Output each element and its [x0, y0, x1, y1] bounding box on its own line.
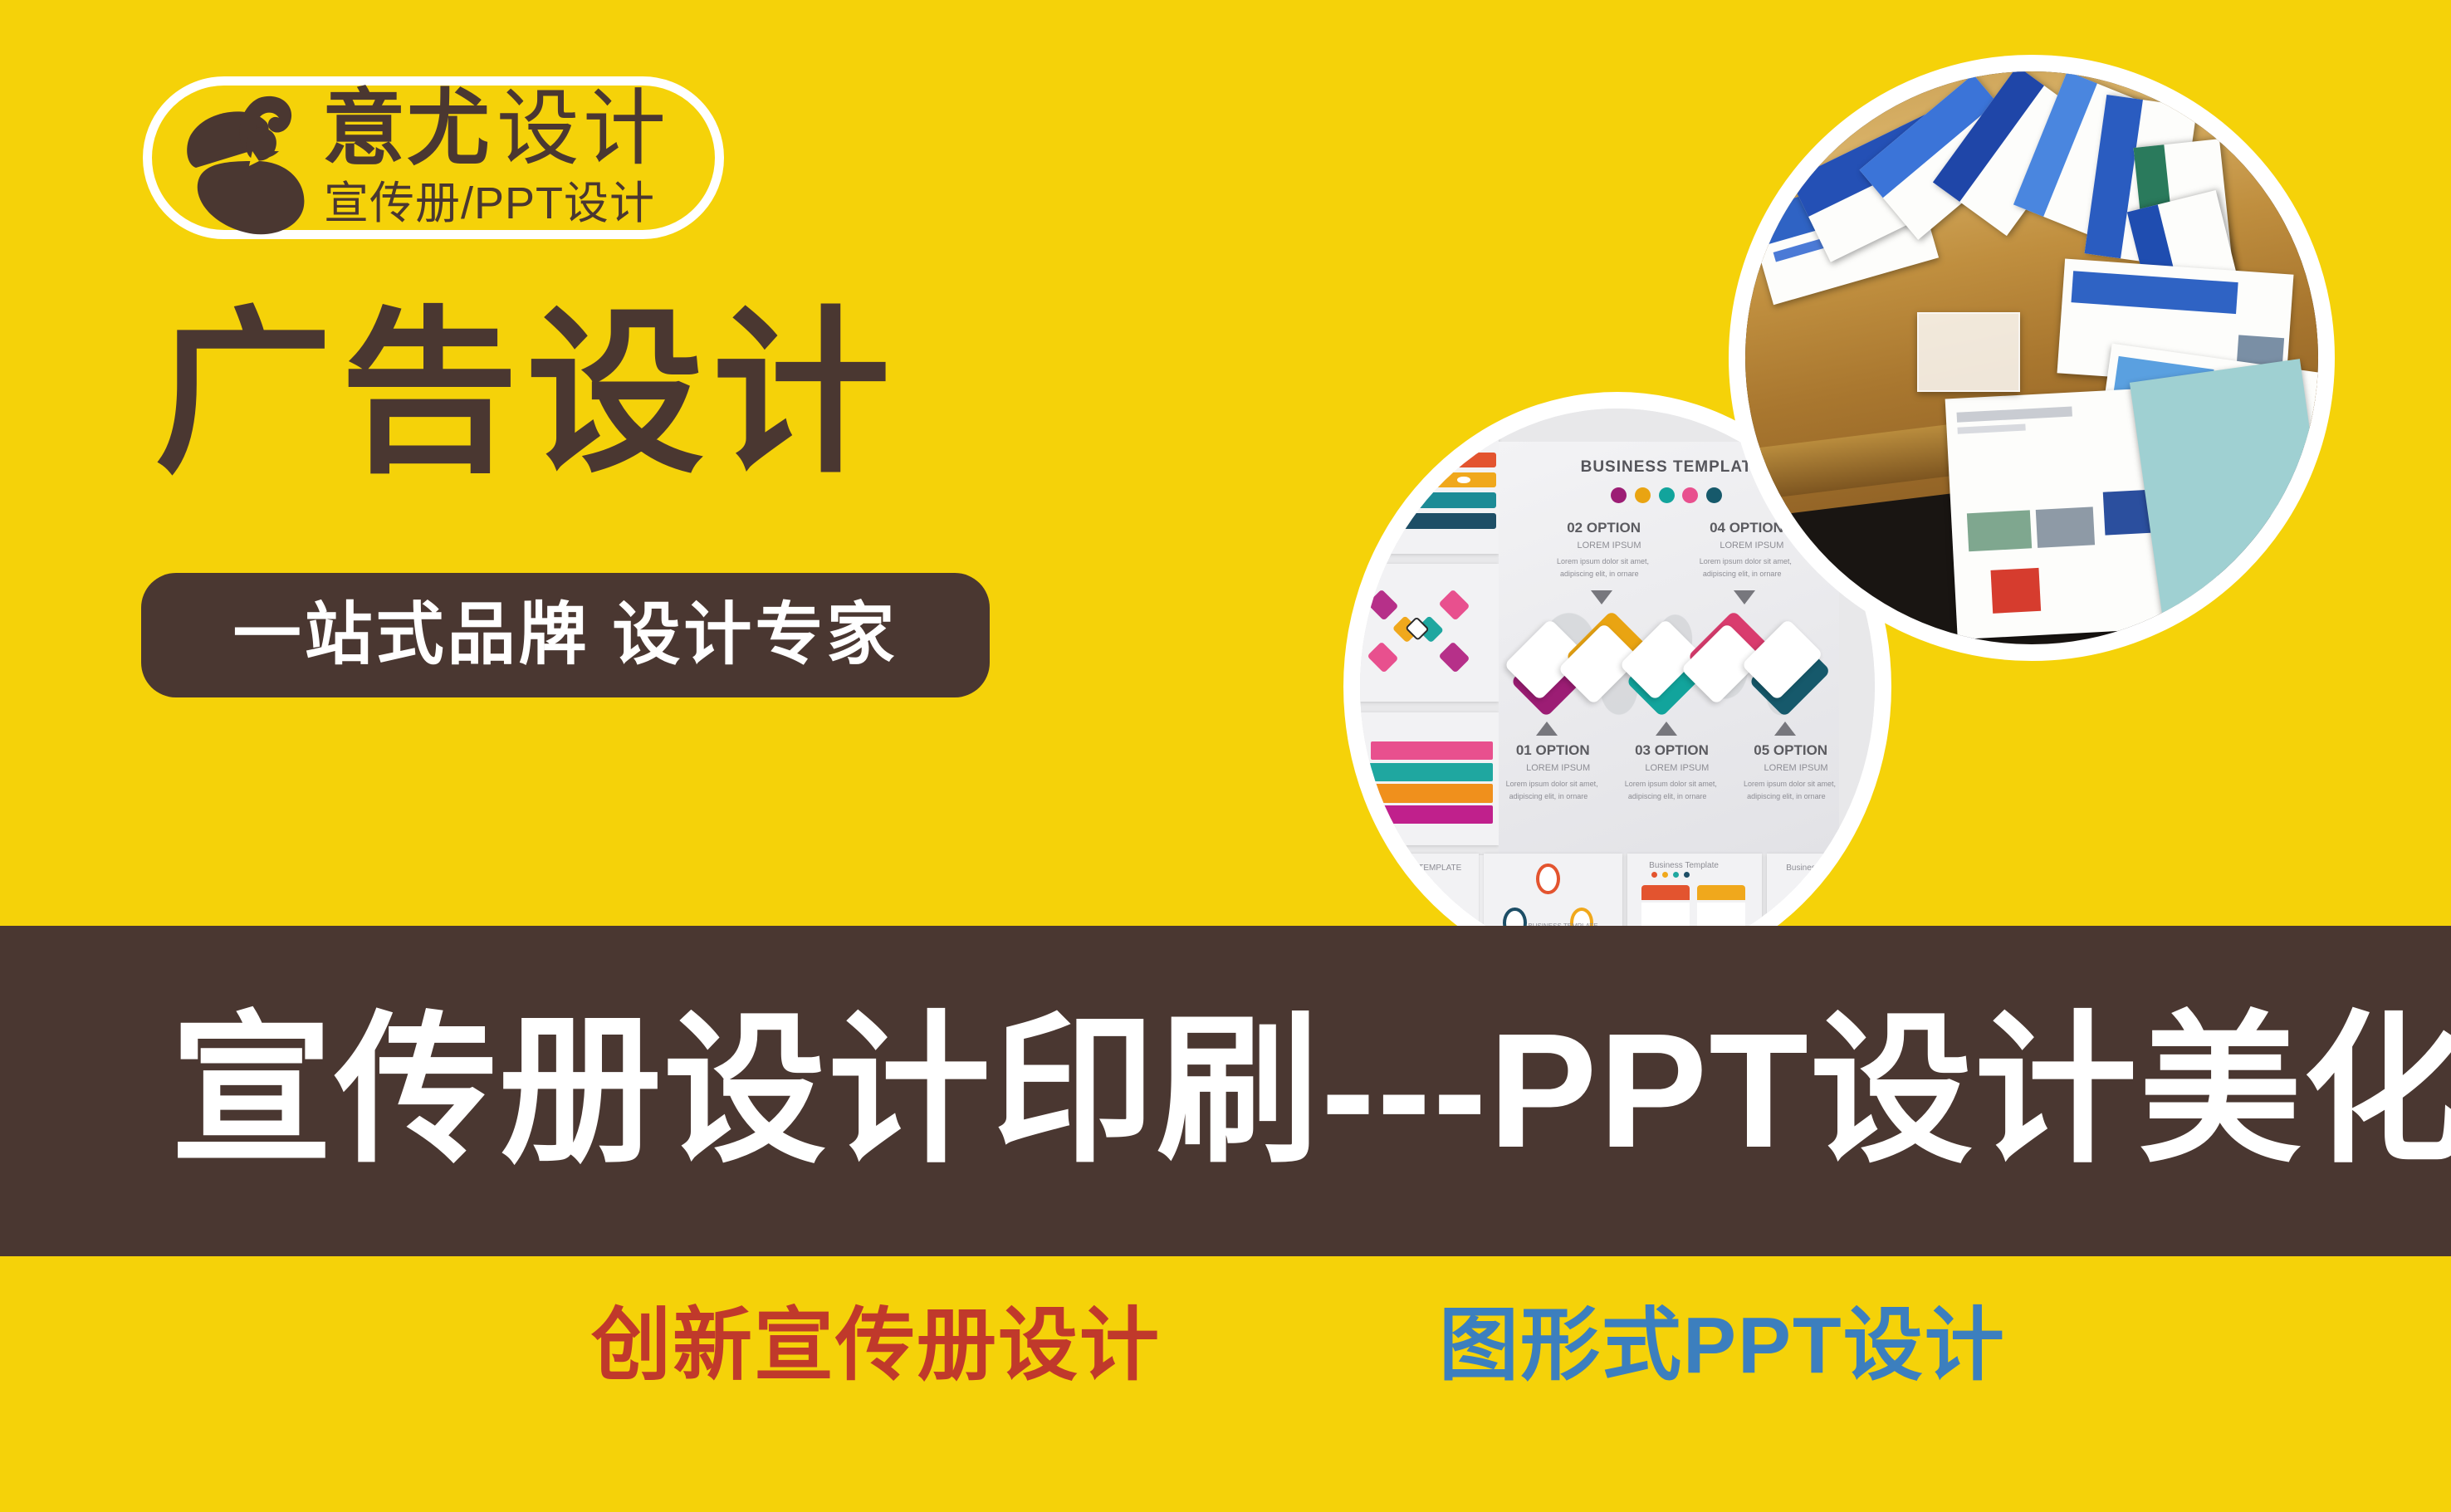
logo-wordmark: 意尤 设计	[322, 80, 721, 178]
service-banner-text: 宣传册设计印刷---PPT设计美化	[170, 1010, 2451, 1172]
page-title: 广告设计	[154, 306, 898, 483]
bottom-tag-row: 创新宣传册设计 图形式PPT设计	[0, 1256, 2451, 1512]
poster-canvas: 意尤 设计 宣传册/PPT设计 广告设计 一站式品牌 设计专家	[0, 0, 2451, 1512]
tag-brochure-design[interactable]: 创新宣传册设计	[591, 1306, 1161, 1386]
logo-tagline: 宣传册/PPT设计	[324, 181, 655, 226]
printed-brochures-photo	[1729, 55, 2335, 661]
hero-pill-label: 一站式品牌 设计专家	[233, 601, 898, 669]
tag-ppt-design[interactable]: 图形式PPT设计	[1439, 1306, 2006, 1386]
logo-brand-thin: 设计	[497, 87, 669, 170]
hero-pill-badge: 一站式品牌 设计专家	[141, 573, 990, 697]
yiyou-bird-leaf-mark-icon	[166, 81, 324, 235]
service-banner: 宣传册设计印刷---PPT设计美化	[0, 926, 2451, 1256]
logo-brand-bold: 意尤	[322, 87, 492, 170]
